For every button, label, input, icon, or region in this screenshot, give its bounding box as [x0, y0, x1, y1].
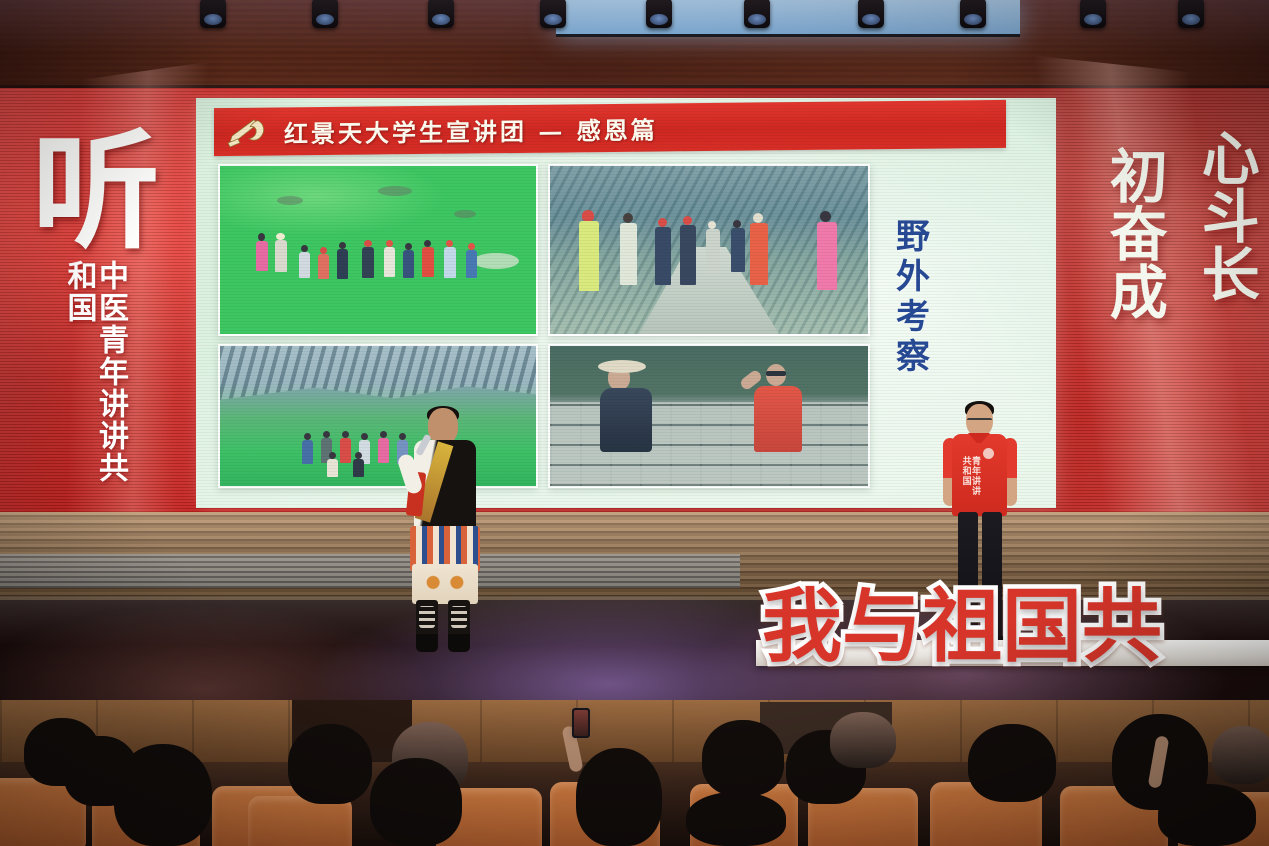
audience-head — [702, 720, 784, 796]
audience-head — [370, 758, 462, 846]
audience-head — [1212, 726, 1269, 784]
slide-title: 红景天大学生宣讲团 — 感恩篇 — [284, 110, 658, 149]
performer-boot-left — [416, 600, 438, 652]
presentation-slide: 红景天大学生宣讲团 — 感恩篇 — [196, 98, 1056, 508]
slide-photo-top-right — [548, 164, 870, 336]
slide-title-bar: 红景天大学生宣讲团 — 感恩篇 — [214, 100, 1006, 156]
stage-light-icon — [744, 0, 770, 28]
banner-left-big-char: 听 — [32, 128, 160, 256]
audience-area — [0, 700, 1269, 846]
audience-head — [288, 724, 372, 804]
student-shirt-text: 青年讲讲共和国 — [957, 456, 979, 502]
banner-left-vertical-text: 中医青年讲讲共和国 — [63, 260, 126, 500]
stage-light-icon — [540, 0, 566, 28]
slide-photo-grid — [218, 164, 866, 484]
audience-head — [1158, 784, 1256, 846]
glasses-icon — [967, 418, 992, 426]
performer-tibetan-costume — [396, 408, 492, 656]
stage-light-icon — [428, 0, 454, 28]
stage-light-icon — [960, 0, 986, 28]
performer-head — [428, 408, 458, 444]
stage-light-icon — [858, 0, 884, 28]
slide-photo-top-left — [218, 164, 538, 336]
audience-head — [830, 712, 896, 768]
banner-left: 听 中医青年讲讲共和国 — [16, 120, 196, 500]
slide-side-label: 野外考察 — [888, 218, 931, 378]
stage-light-icon — [646, 0, 672, 28]
stage-light-icon — [200, 0, 226, 28]
phone-camera-icon[interactable] — [572, 708, 590, 738]
stage-light-icon — [1080, 0, 1106, 28]
performer-boot-right — [448, 600, 470, 652]
stage-light-icon — [312, 0, 338, 28]
banner-right-column-1: 心斗长 — [1190, 128, 1261, 302]
banner-right: 心斗长 初奋成 — [1078, 118, 1269, 488]
stage-light-icon — [1178, 0, 1204, 28]
performer-skirt — [412, 564, 478, 604]
stage-photograph: 听 中医青年讲讲共和国 心斗长 初奋成 红景天大学生宣讲团 — 感恩篇 — [0, 0, 1269, 846]
audience-head — [114, 744, 212, 846]
shirt-logo-icon — [983, 448, 994, 459]
foreground-sign-text: 我与祖国共 — [762, 586, 1162, 666]
audience-head — [576, 748, 662, 846]
foreground-sign: 我与祖国共 — [762, 556, 1269, 666]
cpc-emblem-icon — [224, 115, 270, 149]
ceiling-light-panel — [556, 0, 1020, 37]
slide-photo-bottom-right — [548, 344, 870, 488]
audience-head — [686, 792, 786, 846]
audience-head — [968, 724, 1056, 802]
banner-right-column-2: 初奋成 — [1098, 146, 1169, 320]
